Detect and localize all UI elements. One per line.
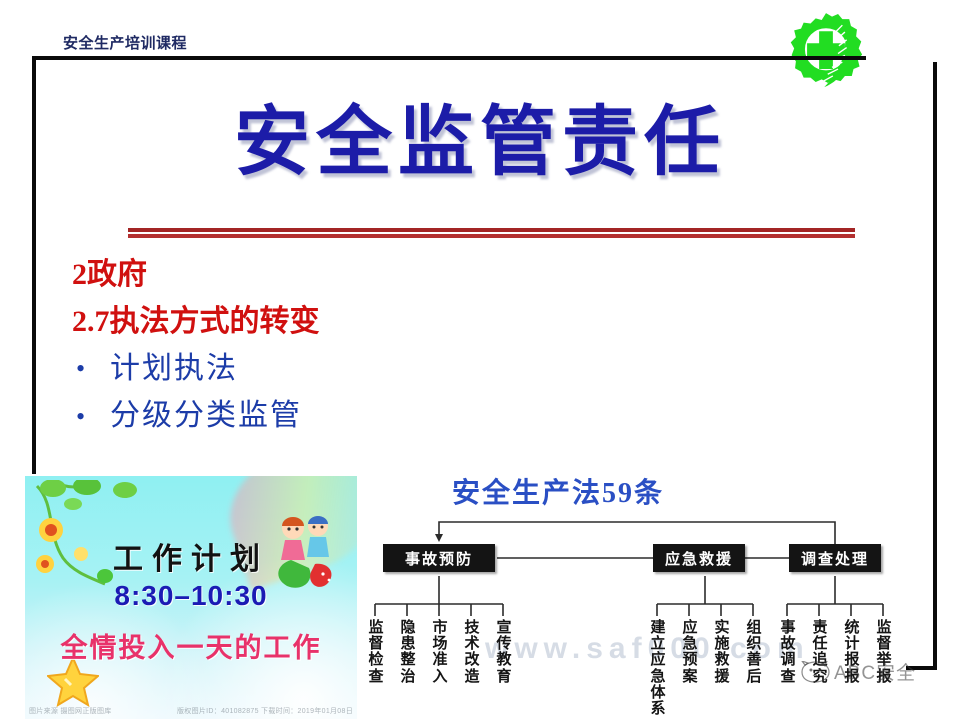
- section-heading-2: 2.7执法方式的转变: [72, 299, 592, 346]
- work-plan-photo: 工作计划 8:30–10:30 全情投入一天的工作 图片来源 摄图网正版图库 版…: [25, 476, 357, 719]
- leaf-hazard-rectification: 隐患整治: [397, 620, 419, 685]
- leaf-market-access: 市场准入: [429, 620, 451, 685]
- node-investigation: 调查处理: [789, 544, 881, 572]
- node-accident-prevention: 事故预防: [383, 544, 495, 572]
- leaf-supervision-inspection: 监督检查: [365, 620, 387, 685]
- cat-face-icon: [800, 661, 830, 683]
- bullet-dot-icon: •: [72, 348, 110, 389]
- node-emergency-rescue: 应急救援: [653, 544, 745, 572]
- bullet-label-2: 分级分类监管: [110, 392, 302, 439]
- frame-gap-top-right: [866, 48, 946, 62]
- course-header-label: 安全生产培训课程: [63, 32, 187, 53]
- slide-canvas: 安全生产培训课程 安全监管责任: [0, 0, 960, 720]
- photo-watermark-right: 版权图片ID：401082875 下载时间：2019年01月08日: [177, 706, 353, 716]
- page-title: 安全监管责任: [0, 104, 960, 184]
- title-divider: [128, 228, 855, 234]
- bullet-item-1: • 计划执法: [72, 345, 592, 392]
- bullet-label-1: 计划执法: [110, 345, 238, 392]
- leaf-emergency-plan: 应急预案: [679, 620, 701, 685]
- photo-slogan: 全情投入一天的工作: [25, 626, 357, 665]
- photo-watermark-left: 图片来源 摄图网正版图库: [29, 706, 112, 716]
- abc-safety-watermark: ABC安全: [800, 658, 916, 685]
- abc-safety-watermark-label: ABC安全: [834, 658, 916, 685]
- leaf-build-emergency-system: 建立应急体系: [647, 620, 669, 717]
- section-heading-1: 2政府: [72, 252, 592, 299]
- leaf-conduct-rescue: 实施救援: [711, 620, 733, 685]
- leaf-technical-upgrade: 技术改造: [461, 620, 483, 685]
- content-block: 2政府 2.7执法方式的转变 • 计划执法 • 分级分类监管: [72, 252, 592, 440]
- diagram-title: 安全生产法59条: [452, 471, 664, 511]
- bullet-dot-icon: •: [72, 396, 110, 437]
- bullet-item-2: • 分级分类监管: [72, 392, 592, 439]
- photo-title: 工作计划: [25, 534, 357, 578]
- leaf-organize-aftermath: 组织善后: [743, 620, 765, 685]
- leaf-publicity-education: 宣传教育: [493, 620, 515, 685]
- photo-time-range: 8:30–10:30: [25, 580, 357, 612]
- leaf-accident-investigation: 事故调查: [777, 620, 799, 685]
